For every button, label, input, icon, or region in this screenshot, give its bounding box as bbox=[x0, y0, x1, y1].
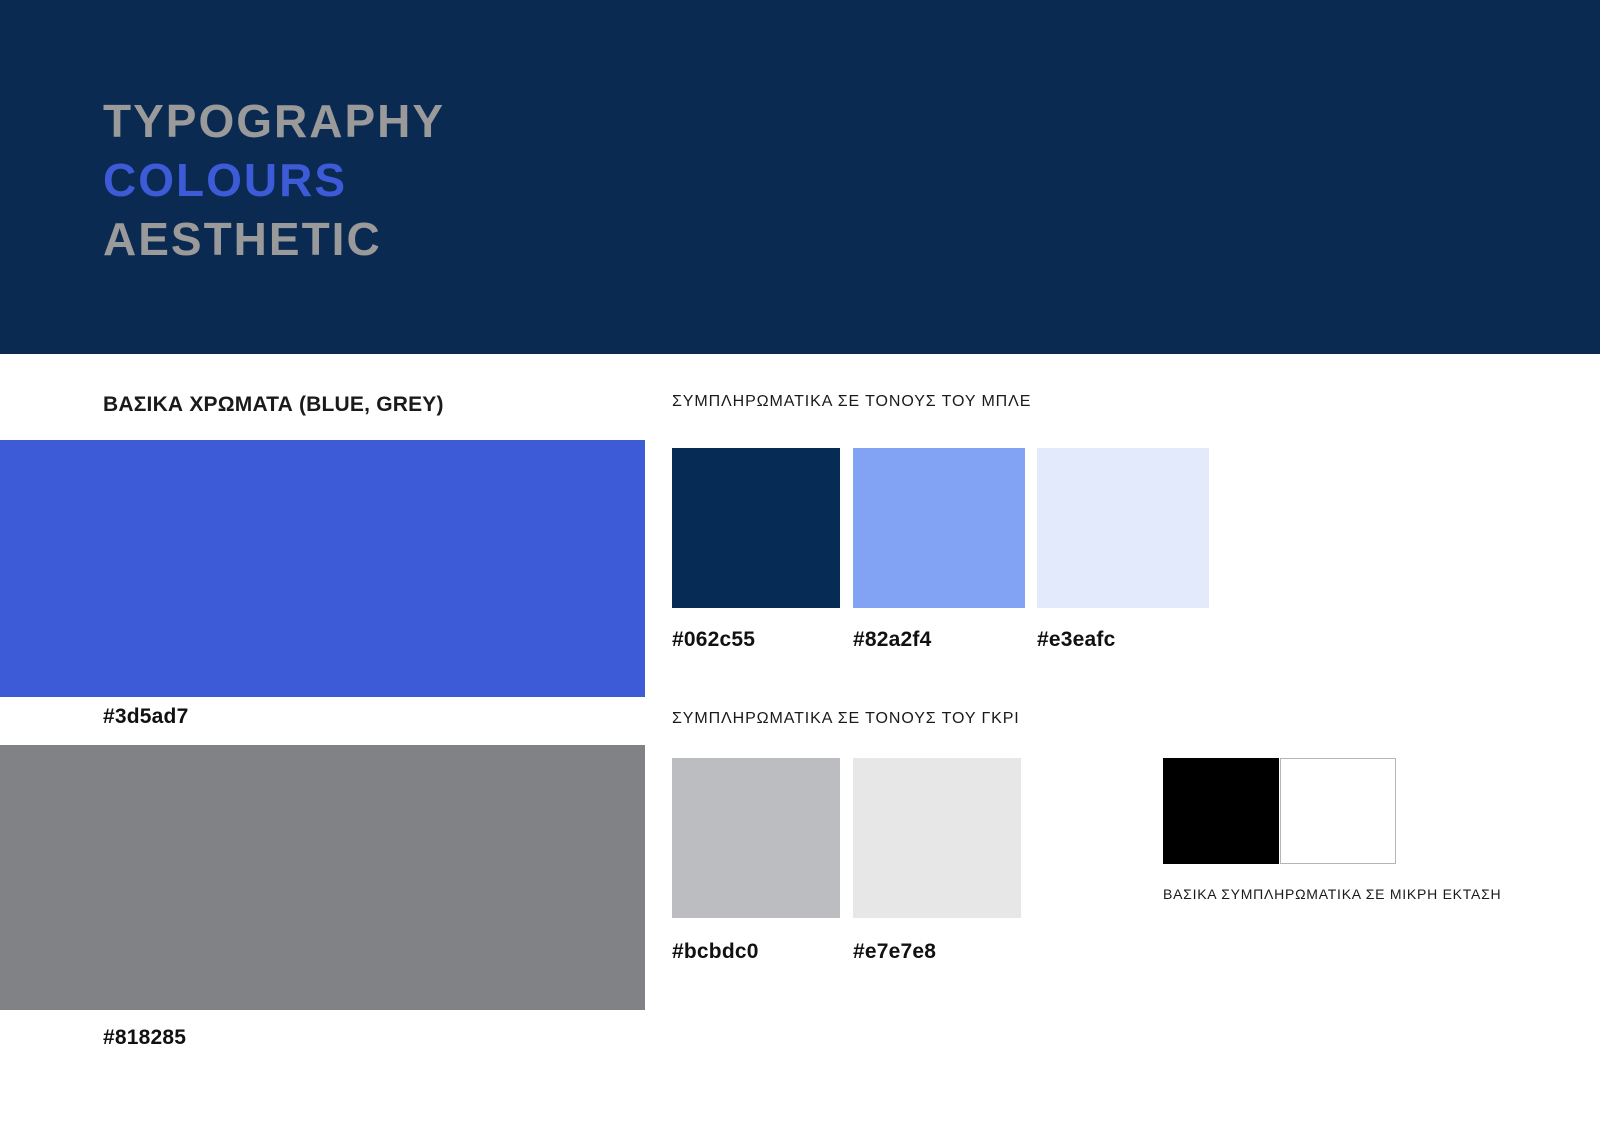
swatch-primary-grey bbox=[0, 745, 645, 1010]
swatch-blue-tone-3-label: #e3eafc bbox=[1037, 628, 1115, 652]
title-line-colours: COLOURS bbox=[103, 151, 445, 210]
swatch-accent-black bbox=[1163, 758, 1279, 864]
accent-caption: ΒΑΣΙΚΑ ΣΥΜΠΛΗΡΩΜΑΤΙΚΑ ΣΕ ΜΙΚΡΗ ΕΚΤΑΣΗ bbox=[1163, 886, 1501, 902]
swatch-accent-white bbox=[1280, 758, 1396, 864]
swatch-blue-tone-1-label: #062c55 bbox=[672, 628, 755, 652]
swatch-grey-tone-1 bbox=[672, 758, 840, 918]
primary-colours-heading: ΒΑΣΙΚΑ ΧΡΩΜΑΤΑ (BLUE, GREY) bbox=[103, 393, 444, 417]
swatch-blue-tone-1 bbox=[672, 448, 840, 608]
swatch-blue-tone-3 bbox=[1037, 448, 1209, 608]
header-band: TYPOGRAPHY COLOURS AESTHETIC bbox=[0, 0, 1600, 354]
swatch-grey-tone-2-label: #e7e7e8 bbox=[853, 940, 936, 964]
swatch-blue-tone-2 bbox=[853, 448, 1025, 608]
swatch-primary-grey-label: #818285 bbox=[103, 1026, 186, 1050]
title-stack: TYPOGRAPHY COLOURS AESTHETIC bbox=[103, 92, 445, 269]
swatch-primary-blue bbox=[0, 440, 645, 697]
blue-tones-heading: ΣΥΜΠΛΗΡΩΜΑΤΙΚΑ ΣΕ ΤΟΝΟΥΣ ΤΟΥ ΜΠΛΕ bbox=[672, 393, 1031, 411]
swatch-primary-blue-label: #3d5ad7 bbox=[103, 705, 188, 729]
swatch-blue-tone-2-label: #82a2f4 bbox=[853, 628, 931, 652]
title-line-aesthetic: AESTHETIC bbox=[103, 210, 445, 269]
swatch-grey-tone-2 bbox=[853, 758, 1021, 918]
swatch-grey-tone-1-label: #bcbdc0 bbox=[672, 940, 759, 964]
title-line-typography: TYPOGRAPHY bbox=[103, 92, 445, 151]
grey-tones-heading: ΣΥΜΠΛΗΡΩΜΑΤΙΚΑ ΣΕ ΤΟΝΟΥΣ ΤΟΥ ΓΚΡΙ bbox=[672, 710, 1020, 728]
brand-palette-board: TYPOGRAPHY COLOURS AESTHETIC ΒΑΣΙΚΑ ΧΡΩΜ… bbox=[0, 0, 1600, 1131]
